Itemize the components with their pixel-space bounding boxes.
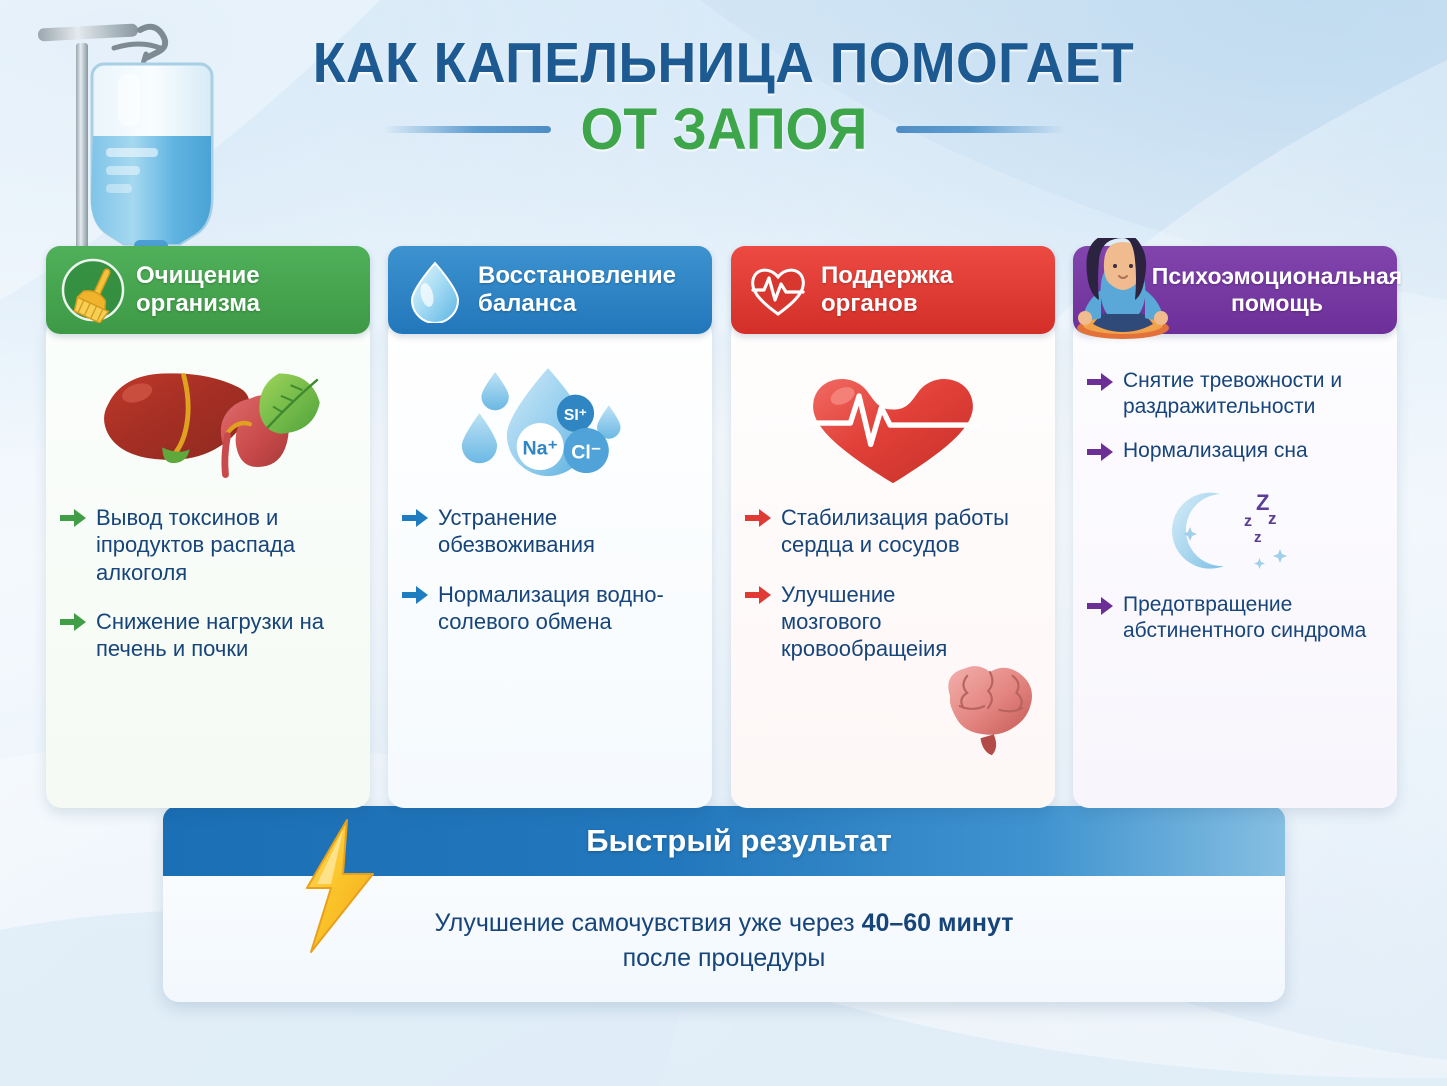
svg-text:z: z — [1244, 513, 1252, 530]
bullet-item: Стабилизация работы сердца и сосудов — [745, 504, 1041, 559]
bullet-list-cleansing: Вывод токсинов и іпродуктов распада алко… — [60, 504, 356, 662]
bullet-list-psycho: Снятие тревожности и раздражительности Н… — [1087, 356, 1383, 644]
card-body-organs: Стабилизация работы сердца и сосудов Улу… — [731, 318, 1055, 808]
title-line-1: КАК КАПЕЛЬНИЦА ПОМОГАЕТ — [43, 34, 1403, 92]
banner-sub-prefix: Улучшение самочувствия уже через — [435, 909, 862, 937]
arrow-icon — [1087, 597, 1113, 620]
lightning-bolt-icon — [293, 818, 383, 954]
bullet-item: Вывод токсинов и іпродуктов распада алко… — [60, 504, 356, 586]
bullet-text: Снижение нагрузки на печень и почки — [96, 608, 356, 663]
title-divider-right — [896, 126, 1064, 133]
sleeping-moon-icon: Z z z z — [1087, 480, 1383, 580]
arrow-icon — [60, 509, 86, 532]
card-title-line1: Поддержка — [821, 262, 953, 290]
card-title-line1: Психоэмоциональная — [1152, 263, 1402, 290]
arrow-icon — [745, 509, 771, 532]
card-body-cleansing: Вывод токсинов и іпродуктов распада алко… — [46, 318, 370, 808]
meditating-woman-icon — [1069, 238, 1177, 342]
card-title-psycho: Психоэмоциональная помощь — [1152, 263, 1402, 317]
bullet-item: Предотвращение абстинентного синдрома — [1087, 592, 1383, 644]
brain-icon — [927, 655, 1051, 764]
broom-icon — [60, 257, 126, 323]
arrow-icon — [402, 509, 428, 532]
card-title-line2: организма — [136, 290, 260, 318]
ion-label-si: SI⁺ — [564, 407, 587, 424]
bullet-text: Предотвращение абстинентного синдрома — [1123, 592, 1383, 644]
bullet-text: Нормализация водно-солевого обмена — [438, 581, 698, 636]
card-title-line2: баланса — [478, 290, 676, 318]
banner-title: Быстрый результат — [556, 823, 892, 859]
card-title-cleansing: Очищение организма — [136, 262, 260, 318]
card-title-balance: Восстановление баланса — [478, 262, 676, 318]
card-header-psycho: Психоэмоциональная помощь — [1073, 246, 1397, 334]
card-organs[interactable]: Поддержка органов Стабилизация работы се… — [731, 246, 1055, 808]
ion-label-na: Na⁺ — [523, 437, 558, 459]
fast-result-banner[interactable]: Быстрый результат Улучшение самочувствия… — [163, 806, 1285, 1002]
arrow-icon — [1087, 373, 1113, 396]
bullet-list-organs: Стабилизация работы сердца и сосудов Улу… — [745, 504, 1041, 662]
title-divider-left — [383, 126, 551, 133]
bullet-text: Улучшение мозгового кровообращеіия — [781, 581, 951, 663]
card-body-psycho: Снятие тревожности и раздражительности Н… — [1073, 318, 1397, 808]
water-drop-icon — [402, 257, 468, 323]
bullet-item: Улучшение мозгового кровообращеіия — [745, 581, 1041, 663]
card-header-organs: Поддержка органов — [731, 246, 1055, 334]
card-psycho[interactable]: Психоэмоциональная помощь Снятие тревожн… — [1073, 246, 1397, 808]
bullet-list-balance: Устранение обезвоживания Нормализация во… — [402, 504, 698, 635]
bullet-item: Устранение обезвоживания — [402, 504, 698, 559]
card-header-balance: Восстановление баланса — [388, 246, 712, 334]
arrow-icon — [60, 613, 86, 636]
card-title-line1: Восстановление — [478, 262, 676, 290]
arrow-icon — [1087, 443, 1113, 466]
banner-sub-highlight: 40–60 минут — [862, 909, 1014, 937]
liver-kidney-leaf-icon — [60, 356, 356, 496]
card-balance[interactable]: Восстановление баланса SI⁺ — [388, 246, 712, 808]
bullet-text: Снятие тревожности и раздражительности — [1123, 368, 1383, 420]
bullet-text: Вывод токсинов и іпродуктов распада алко… — [96, 504, 356, 586]
card-body-balance: SI⁺ Na⁺ Cl⁻ Устранение обезвоживания Нор… — [388, 318, 712, 808]
arrow-icon — [745, 586, 771, 609]
card-title-line2: помощь — [1152, 290, 1402, 317]
ion-label-cl: Cl⁻ — [571, 441, 601, 463]
bullet-text: Устранение обезвоживания — [438, 504, 698, 559]
heart-pulse-icon — [745, 257, 811, 323]
bullet-item: Снижение нагрузки на печень и почки — [60, 608, 356, 663]
card-header-cleansing: Очищение организма — [46, 246, 370, 334]
electrolyte-drops-icon: SI⁺ Na⁺ Cl⁻ — [402, 356, 698, 496]
card-title-line2: органов — [821, 290, 953, 318]
arrow-icon — [402, 586, 428, 609]
bullet-item: Нормализация сна — [1087, 438, 1383, 466]
card-cleansing[interactable]: Очищение организма — [46, 246, 370, 808]
svg-text:z: z — [1254, 529, 1262, 546]
bullet-text: Стабилизация работы сердца и сосудов — [781, 504, 1041, 559]
bullet-text: Нормализация сна — [1123, 438, 1308, 464]
title-line-2: ОТ ЗАПОЯ — [580, 96, 867, 163]
bullet-item: Снятие тревожности и раздражительности — [1087, 368, 1383, 420]
heart-ecg-icon — [745, 356, 1041, 496]
card-title-organs: Поддержка органов — [821, 262, 953, 318]
svg-text:z: z — [1268, 509, 1277, 528]
card-title-line1: Очищение — [136, 262, 260, 290]
bullet-item: Нормализация водно-солевого обмена — [402, 581, 698, 636]
